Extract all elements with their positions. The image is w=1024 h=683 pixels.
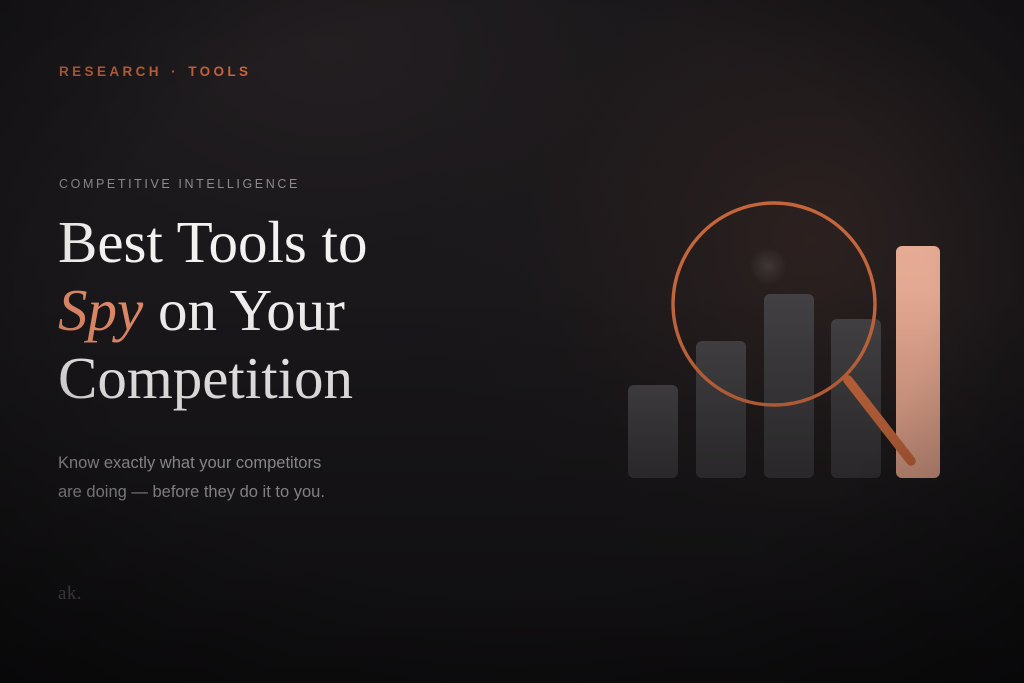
body-paragraph: Know exactly what your competitors are d… <box>58 449 458 507</box>
headline-line-3: Competition <box>58 345 353 411</box>
headline-accent-word: Spy <box>58 277 143 343</box>
headline-line-1: Best Tools to <box>58 209 368 275</box>
page-title: Best Tools to Spy on Your Competition <box>58 208 528 412</box>
bar-chart-illustration <box>600 170 1000 510</box>
brand-wordmark: ak. <box>58 583 82 605</box>
body-line-1: Know exactly what your competitors <box>58 454 321 472</box>
lens-glare <box>746 244 790 288</box>
section-kicker: COMPETITIVE INTELLIGENCE <box>59 177 300 191</box>
eyebrow-label: RESEARCH · TOOLS <box>59 64 251 79</box>
headline-line-2-rest: on Your <box>143 277 345 343</box>
chart-bar-2 <box>696 341 746 478</box>
chart-bar-1 <box>628 385 678 478</box>
body-line-2: are doing — before they do it to you. <box>58 483 325 501</box>
chart-bar-4 <box>831 319 881 478</box>
slide-canvas: RESEARCH · TOOLS COMPETITIVE INTELLIGENC… <box>0 0 1024 683</box>
eyebrow-separator: · <box>169 64 181 79</box>
chart-svg <box>600 170 1000 510</box>
eyebrow-right-label: TOOLS <box>188 64 251 79</box>
eyebrow-left-label: RESEARCH <box>59 64 162 79</box>
chart-bar-3 <box>764 294 814 478</box>
